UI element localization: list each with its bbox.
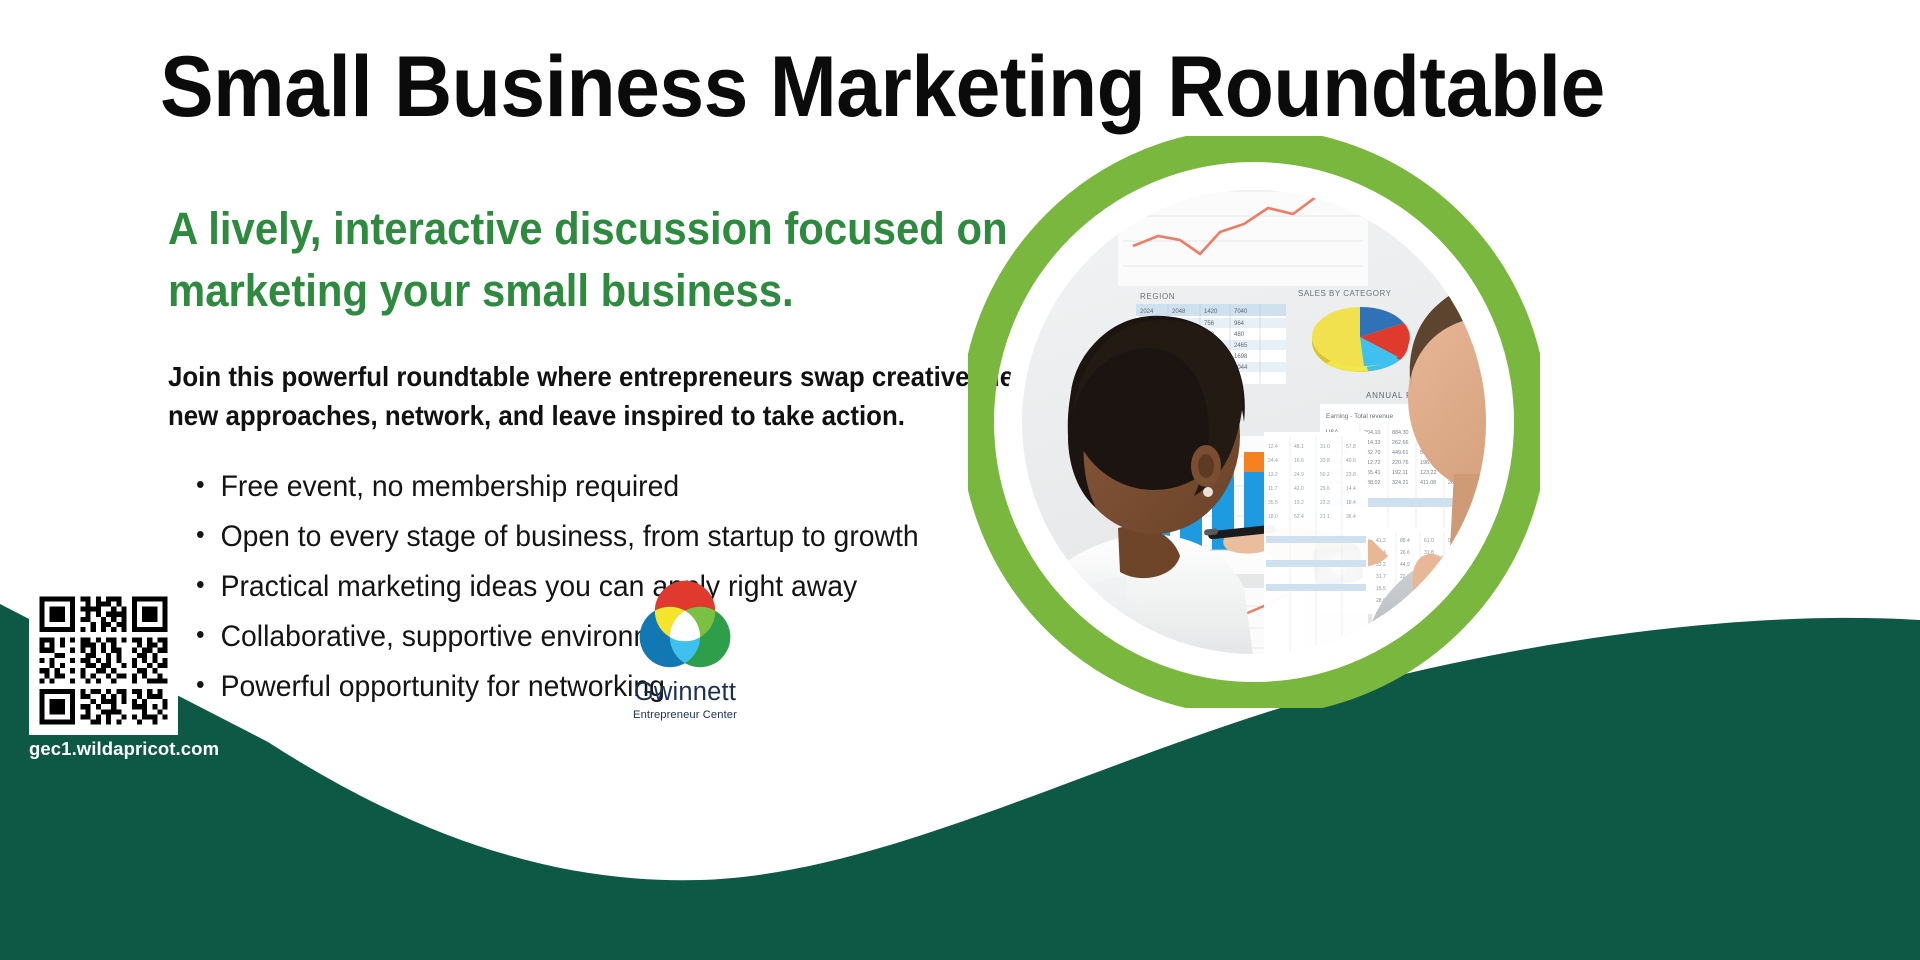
svg-text:18.0: 18.0 [1268,514,1278,520]
list-item: Practical marketing ideas you can apply … [196,570,919,605]
svg-text:2048: 2048 [1172,309,1186,315]
svg-text:50.2: 50.2 [1320,472,1330,478]
svg-text:19.2: 19.2 [1294,500,1304,506]
svg-text:22.3: 22.3 [1320,500,1330,506]
svg-text:29.6: 29.6 [1320,486,1330,492]
svg-text:884.30: 884.30 [1392,430,1409,436]
photo-circle: REGION 20242048 142 [968,136,1540,708]
svg-text:REGION: REGION [1140,292,1175,301]
svg-text:7040: 7040 [1234,309,1248,315]
svg-text:57.8: 57.8 [1346,444,1356,450]
qr-code-icon[interactable] [29,586,178,735]
svg-text:41.2: 41.2 [1376,538,1386,544]
svg-text:14.4: 14.4 [1346,486,1356,492]
list-item: Powerful opportunity for networking [196,670,919,705]
list-item: Free event, no membership required [196,470,919,505]
page-title: Small Business Marketing Roundtable [160,44,1497,132]
svg-text:1698: 1698 [1234,354,1248,360]
footer-address: 405 N. Perry St, Lawrenceville, 30046 [648,736,1019,760]
svg-text:SALES BY CATEGORY: SALES BY CATEGORY [1298,289,1392,298]
svg-text:16.6: 16.6 [1294,458,1304,464]
list-item: Collaborative, supportive environment [196,620,919,655]
svg-text:964: 964 [1234,321,1245,327]
svg-text:Earning - Total revenue: Earning - Total revenue [1326,413,1393,420]
svg-text:21.1: 21.1 [1320,514,1330,520]
list-item: Open to every stage of business, from st… [196,520,919,555]
svg-text:18.4: 18.4 [1346,500,1356,506]
svg-text:262.66: 262.66 [1392,440,1409,446]
svg-text:324.21: 324.21 [1392,480,1409,486]
svg-text:48.1: 48.1 [1294,444,1304,450]
svg-text:40.6: 40.6 [1346,458,1356,464]
svg-text:88.4: 88.4 [1400,538,1410,544]
svg-text:24.9: 24.9 [1294,472,1304,478]
venn-three-circles-icon [631,570,739,678]
svg-text:42.0: 42.0 [1294,486,1304,492]
footer-website-url[interactable]: gec1.wildapricot.com [29,738,219,760]
svg-text:61.0: 61.0 [1424,538,1434,544]
event-flyer-banner: Small Business Marketing Roundtable A li… [0,0,1920,960]
svg-text:44.9: 44.9 [1400,562,1410,568]
svg-text:33.8: 33.8 [1320,458,1330,464]
svg-text:2465: 2465 [1234,343,1248,349]
svg-text:13.2: 13.2 [1268,472,1278,478]
svg-text:11.7: 11.7 [1268,486,1278,492]
svg-text:52.4: 52.4 [1294,514,1304,520]
svg-text:26.6: 26.6 [1400,550,1410,556]
svg-text:123.22: 123.22 [1420,470,1437,476]
business-people-reviewing-charts-photo: REGION 20242048 142 [968,136,1540,708]
svg-text:24.4: 24.4 [1448,574,1458,580]
gwinnett-logo: Gwinnett Entrepreneur Center [625,570,745,721]
svg-text:480: 480 [1234,332,1245,338]
svg-text:23.8: 23.8 [1346,472,1356,478]
svg-text:220.76: 220.76 [1392,460,1409,466]
svg-text:756: 756 [1204,321,1215,327]
qr-code-card[interactable] [29,586,178,735]
svg-text:36.4: 36.4 [1346,514,1356,520]
subheadline-line-1: A lively, interactive discussion focused… [168,203,1008,254]
svg-text:12.4: 12.4 [1268,444,1278,450]
svg-text:2024: 2024 [1140,309,1154,315]
svg-text:24.4: 24.4 [1268,458,1278,464]
svg-text:31.0: 31.0 [1320,444,1330,450]
svg-text:1420: 1420 [1204,309,1218,315]
svg-text:449.61: 449.61 [1392,450,1409,456]
svg-text:31.7: 31.7 [1376,574,1386,580]
benefits-list: Free event, no membership required Open … [196,470,919,720]
svg-text:15.5: 15.5 [1376,586,1386,592]
svg-text:411.08: 411.08 [1420,480,1436,486]
svg-text:192.11: 192.11 [1392,470,1408,476]
logo-tagline: Entrepreneur Center [625,710,745,721]
logo-wordmark: Gwinnett [625,680,745,706]
svg-text:35.5: 35.5 [1268,500,1278,506]
